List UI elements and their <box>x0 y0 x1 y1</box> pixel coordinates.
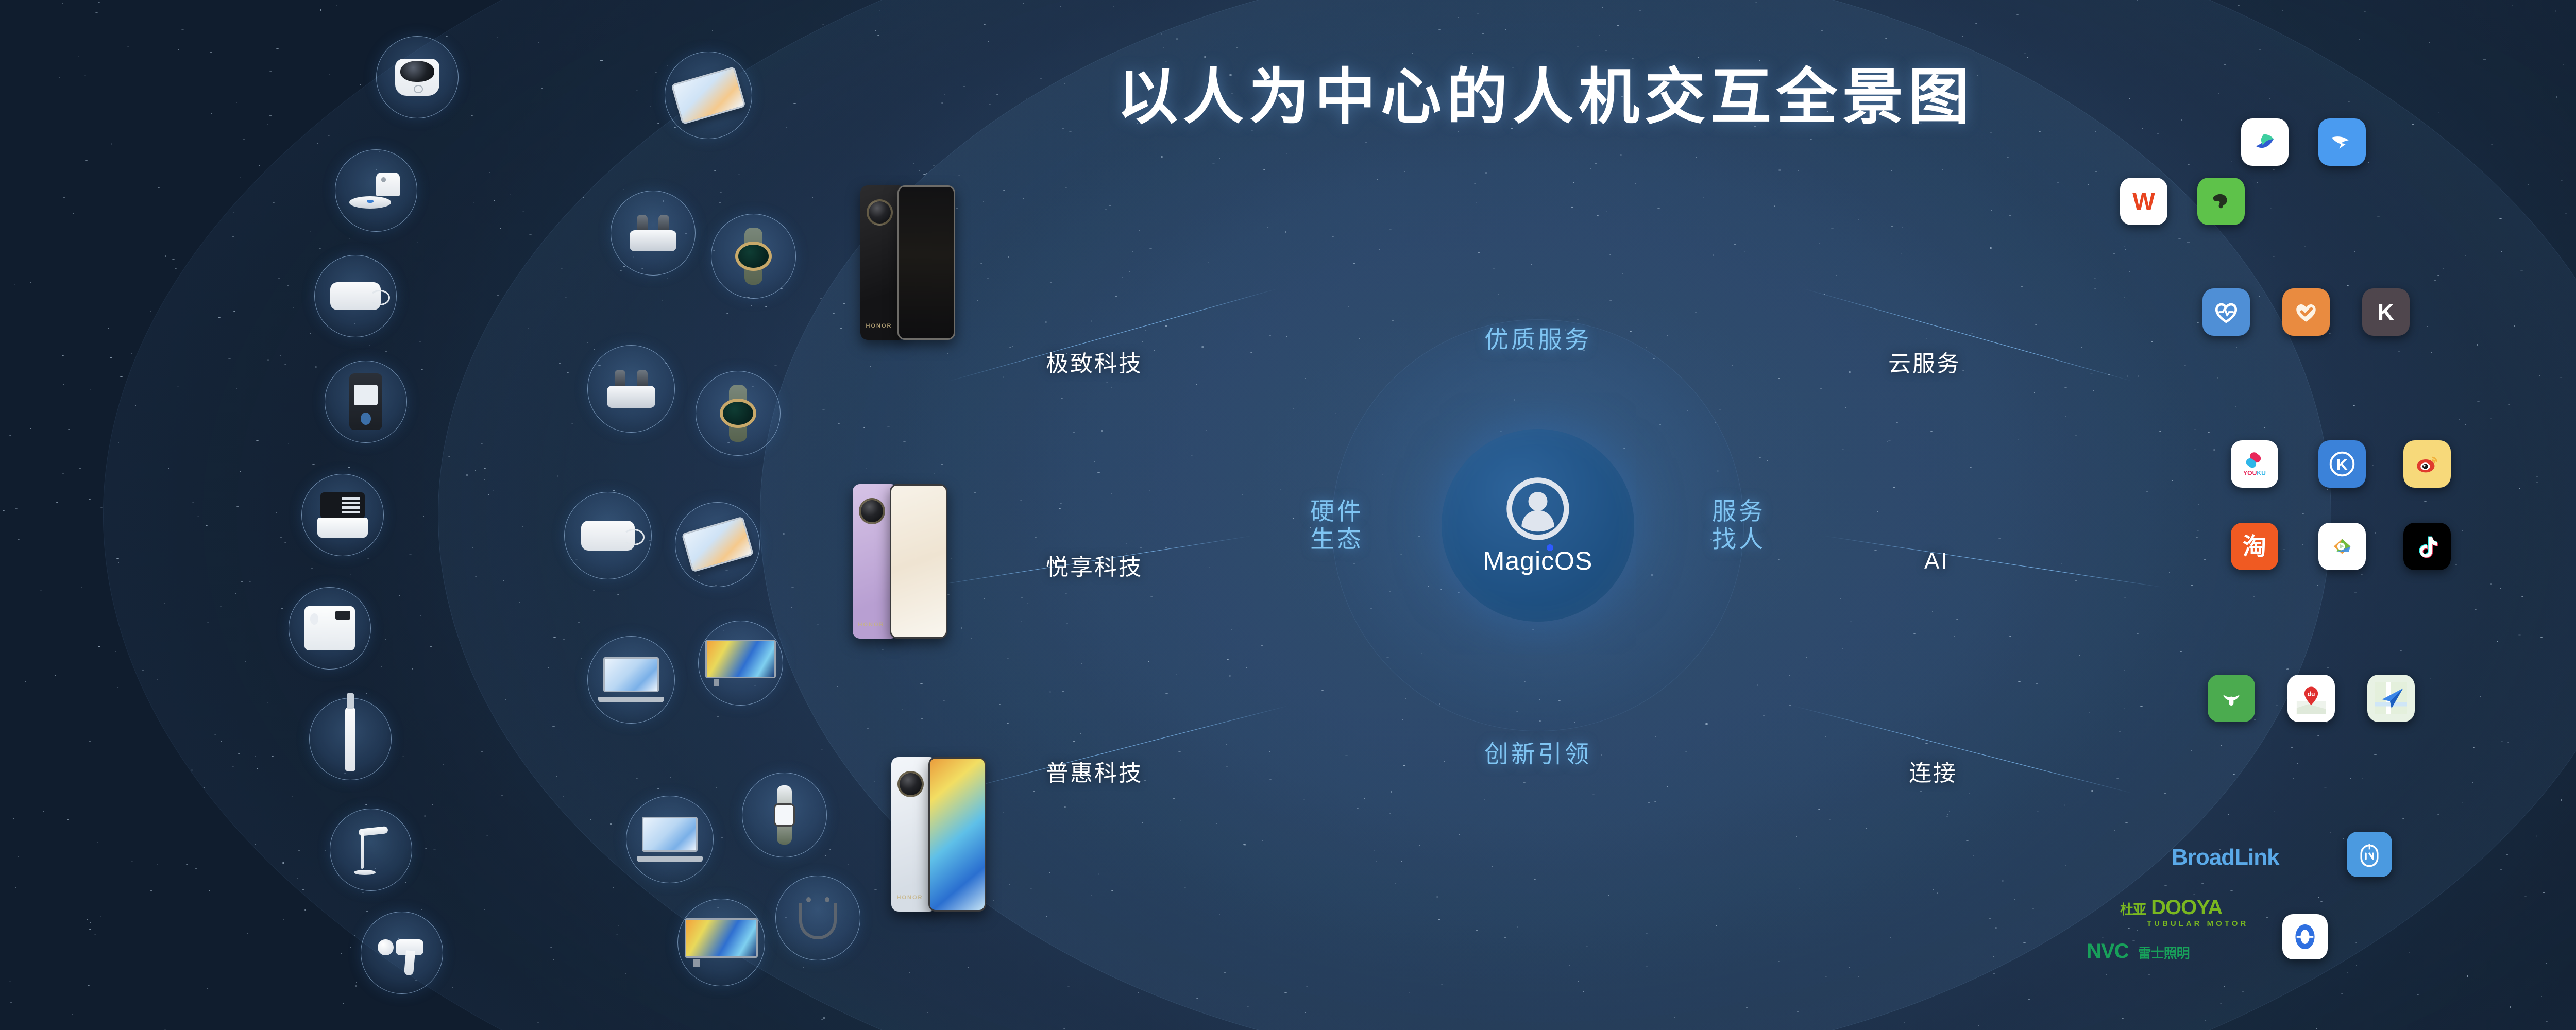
app-icon-wps-office[interactable]: W <box>2120 178 2167 225</box>
app-icon-weibo[interactable] <box>2403 440 2451 488</box>
phone-honor-x-white[interactable]: HONOR <box>891 757 994 912</box>
magicos-hub[interactable]: MagicOS <box>1332 319 1744 731</box>
hub-word-right: 服务 找人 <box>1712 497 1766 553</box>
device-badge-blood-pressure-monitor[interactable] <box>301 474 384 556</box>
camera-module <box>897 771 924 797</box>
app-icon-kugou[interactable]: K <box>2318 440 2366 488</box>
svg-text:K: K <box>2336 456 2348 474</box>
hub-word-left: 硬件 生态 <box>1310 497 1364 553</box>
spoke-label-right-2: 连接 <box>1909 754 1957 787</box>
device-badge-smartwatch-round[interactable] <box>696 371 781 456</box>
device-badge-massage-gun[interactable] <box>361 912 443 994</box>
hub-brand: MagicOS <box>1483 546 1593 576</box>
device-badge-smart-band[interactable] <box>742 772 827 857</box>
brand-cn: 雷士照明 <box>2138 946 2190 961</box>
svg-text:du: du <box>2308 690 2315 697</box>
phone-front <box>897 185 955 340</box>
phone-brand-label: HONOR <box>858 622 885 628</box>
hub-brand-text: MagicOS <box>1483 546 1593 575</box>
device-badge-robot-vacuum[interactable] <box>335 149 417 232</box>
hub-word-left-l1: 硬件 <box>1310 497 1364 525</box>
app-icon-smarthome-app[interactable] <box>2282 914 2328 959</box>
camera-module <box>867 199 893 226</box>
page-title: 以人为中心的人机交互全景图 <box>0 47 2576 135</box>
spoke-label-left-2: 普惠科技 <box>1046 754 1143 787</box>
spoke-label-left-1: 悦享科技 <box>1046 548 1143 581</box>
brand-text: DOOYA <box>2151 896 2222 919</box>
app-icon-didi[interactable] <box>2208 675 2255 722</box>
app-icon-amap[interactable] <box>2367 675 2415 722</box>
spoke-label-left-0: 极致科技 <box>1046 345 1143 378</box>
hub-word-right-l1: 服务 <box>1712 497 1766 525</box>
svg-text:YOUKU: YOUKU <box>2243 470 2266 477</box>
app-glyph: W <box>2132 190 2155 213</box>
device-badge-tablet-2[interactable] <box>675 502 760 587</box>
phone-honor-magic-black[interactable]: HONOR <box>860 185 963 340</box>
app-icon-youku[interactable]: YOUKU <box>2231 440 2278 488</box>
device-badge-earbuds[interactable] <box>611 191 696 276</box>
app-glyph: 淘 <box>2243 535 2266 558</box>
app-icon-health[interactable] <box>2202 288 2250 336</box>
device-badge-glucose-meter[interactable] <box>325 360 407 443</box>
brand-logo-dooya: 杜亚 DOOYA TUBULAR MOTOR <box>2120 896 2248 928</box>
phone-front <box>890 484 947 639</box>
brand-dot <box>1547 544 1553 551</box>
app-icon-keep-health[interactable] <box>2282 288 2330 336</box>
phone-brand-label: HONOR <box>866 323 892 329</box>
brand-logo-nvc: NVC 雷士照明 <box>2087 940 2190 963</box>
device-badge-monitor[interactable] <box>698 621 783 706</box>
device-badge-smart-speaker[interactable] <box>314 255 397 337</box>
device-badge-body-fat-scale[interactable] <box>289 587 371 669</box>
person-icon <box>1504 475 1572 543</box>
app-icon-baidu-maps[interactable]: du <box>2287 675 2335 722</box>
brand-cn: 杜亚 <box>2120 902 2146 917</box>
device-badge-earbuds-white[interactable] <box>587 345 675 433</box>
phone-front <box>928 757 986 912</box>
brand-text: NVC <box>2087 940 2128 963</box>
brand-logo-broadlink: BroadLink <box>2172 845 2279 870</box>
device-badge-laptop-2[interactable] <box>626 796 714 883</box>
app-icon-tencent-video[interactable] <box>2318 523 2366 570</box>
hub-word-top: 优质服务 <box>1484 320 1591 355</box>
spoke-label-right-0: 云服务 <box>1888 345 1961 378</box>
device-badge-desk-lamp[interactable] <box>330 809 412 891</box>
device-badge-tv[interactable] <box>677 899 765 986</box>
device-badge-electric-toothbrush[interactable] <box>309 698 392 780</box>
device-badge-neckband-earphones[interactable] <box>775 875 860 960</box>
brand-sub: TUBULAR MOTOR <box>2147 919 2248 928</box>
app-icon-keep[interactable]: K <box>2362 288 2410 336</box>
device-badge-smartwatch[interactable] <box>711 214 796 299</box>
camera-module <box>859 498 885 524</box>
app-glyph: K <box>2377 300 2394 324</box>
app-icon-broadlink-app[interactable] <box>2347 832 2392 877</box>
device-badge-laptop[interactable] <box>587 636 675 724</box>
poster-stage: 以人为中心的人机交互全景图 MagicOS 优质服务 创新引领 硬件 生态 服务… <box>0 0 2576 1030</box>
hub-core[interactable]: MagicOS <box>1442 429 1634 622</box>
hub-word-bottom: 创新引领 <box>1484 734 1591 770</box>
app-icon-evernote[interactable] <box>2197 178 2245 225</box>
phone-honor-magic-purple[interactable]: HONOR <box>853 484 956 639</box>
phone-brand-label: HONOR <box>897 895 923 901</box>
brand-text: BroadLink <box>2172 845 2279 870</box>
hub-word-left-l2: 生态 <box>1310 525 1364 553</box>
spoke-label-right-1: AI <box>1924 548 1949 574</box>
hub-word-right-l2: 找人 <box>1712 525 1766 553</box>
app-icon-douyin[interactable] <box>2403 523 2451 570</box>
app-icon-taobao[interactable]: 淘 <box>2231 523 2278 570</box>
device-badge-router[interactable] <box>564 492 652 579</box>
